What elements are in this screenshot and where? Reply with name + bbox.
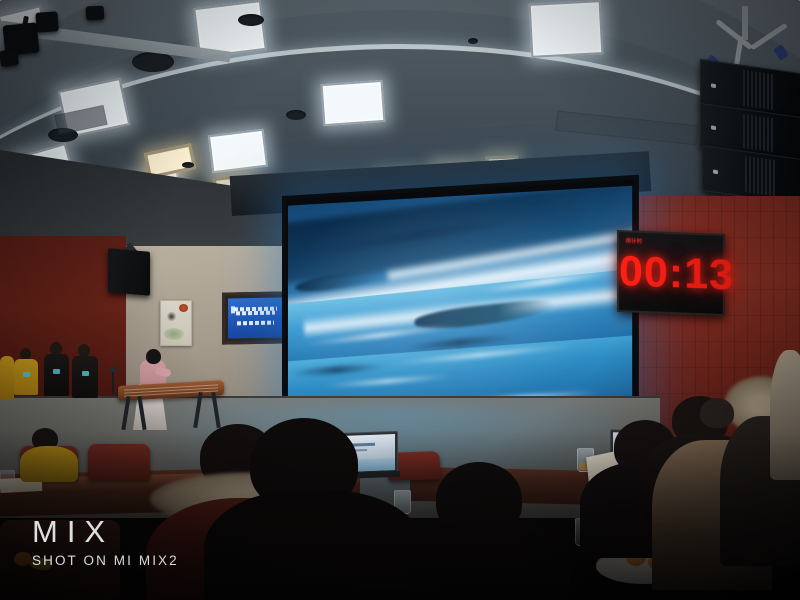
orange-fruit (14, 552, 32, 566)
scroll-red-blossom (179, 304, 188, 312)
person-head (700, 398, 734, 428)
sprinkler-icon (468, 38, 478, 44)
ceiling-panel-light (321, 80, 386, 126)
rigging-bar (742, 6, 748, 40)
person-coat (44, 354, 69, 396)
par-can-icon (86, 6, 105, 21)
ceiling-speaker-icon (132, 52, 174, 72)
person-shoulders (402, 520, 570, 600)
countdown-timer-display[interactable]: 倒计时 00:13 (617, 230, 725, 316)
countdown-timer-value: 00:13 (619, 248, 723, 298)
ceiling-panel-light (208, 129, 268, 174)
sprinkler-icon (182, 162, 194, 168)
person-coat (72, 356, 98, 398)
speaker-grille (743, 70, 773, 110)
wall-mounted-speaker (108, 248, 150, 296)
yellow-vest (14, 359, 38, 395)
audience-chair[interactable] (88, 444, 150, 480)
yellow-vest (20, 446, 78, 482)
scroll-ink-figure (167, 311, 176, 322)
performer-head (146, 349, 161, 364)
staff-badge (82, 371, 89, 376)
person-shoulders (204, 490, 424, 600)
speaker-grille (745, 156, 775, 196)
speaker-led-icon (711, 125, 716, 130)
photo-scene: 倒计时 00:13 (0, 0, 800, 600)
countdown-timer-label: 倒计时 (626, 237, 643, 245)
ceiling-speaker-icon (286, 110, 306, 120)
speaker-led-icon (711, 83, 716, 88)
hanging-scroll-artwork (160, 300, 192, 346)
microphone-stand (112, 370, 114, 394)
speaker-grille (743, 114, 773, 152)
par-can-icon (35, 11, 58, 32)
ceiling-panel-light (529, 0, 604, 58)
ceiling-speaker-icon (238, 14, 264, 26)
microphone-icon (109, 367, 117, 372)
staff-badge (23, 372, 30, 377)
scroll-green-wash (164, 328, 184, 340)
yellow-vest (0, 356, 14, 400)
par-can-icon (0, 49, 19, 67)
monitor-text-line (237, 321, 274, 326)
side-monitor[interactable] (222, 291, 290, 344)
monitor-text-line (236, 310, 275, 315)
side-monitor-screen (228, 298, 284, 339)
speaker-led-icon (713, 170, 718, 175)
light-coat (770, 350, 800, 480)
staff-badge (53, 369, 60, 374)
